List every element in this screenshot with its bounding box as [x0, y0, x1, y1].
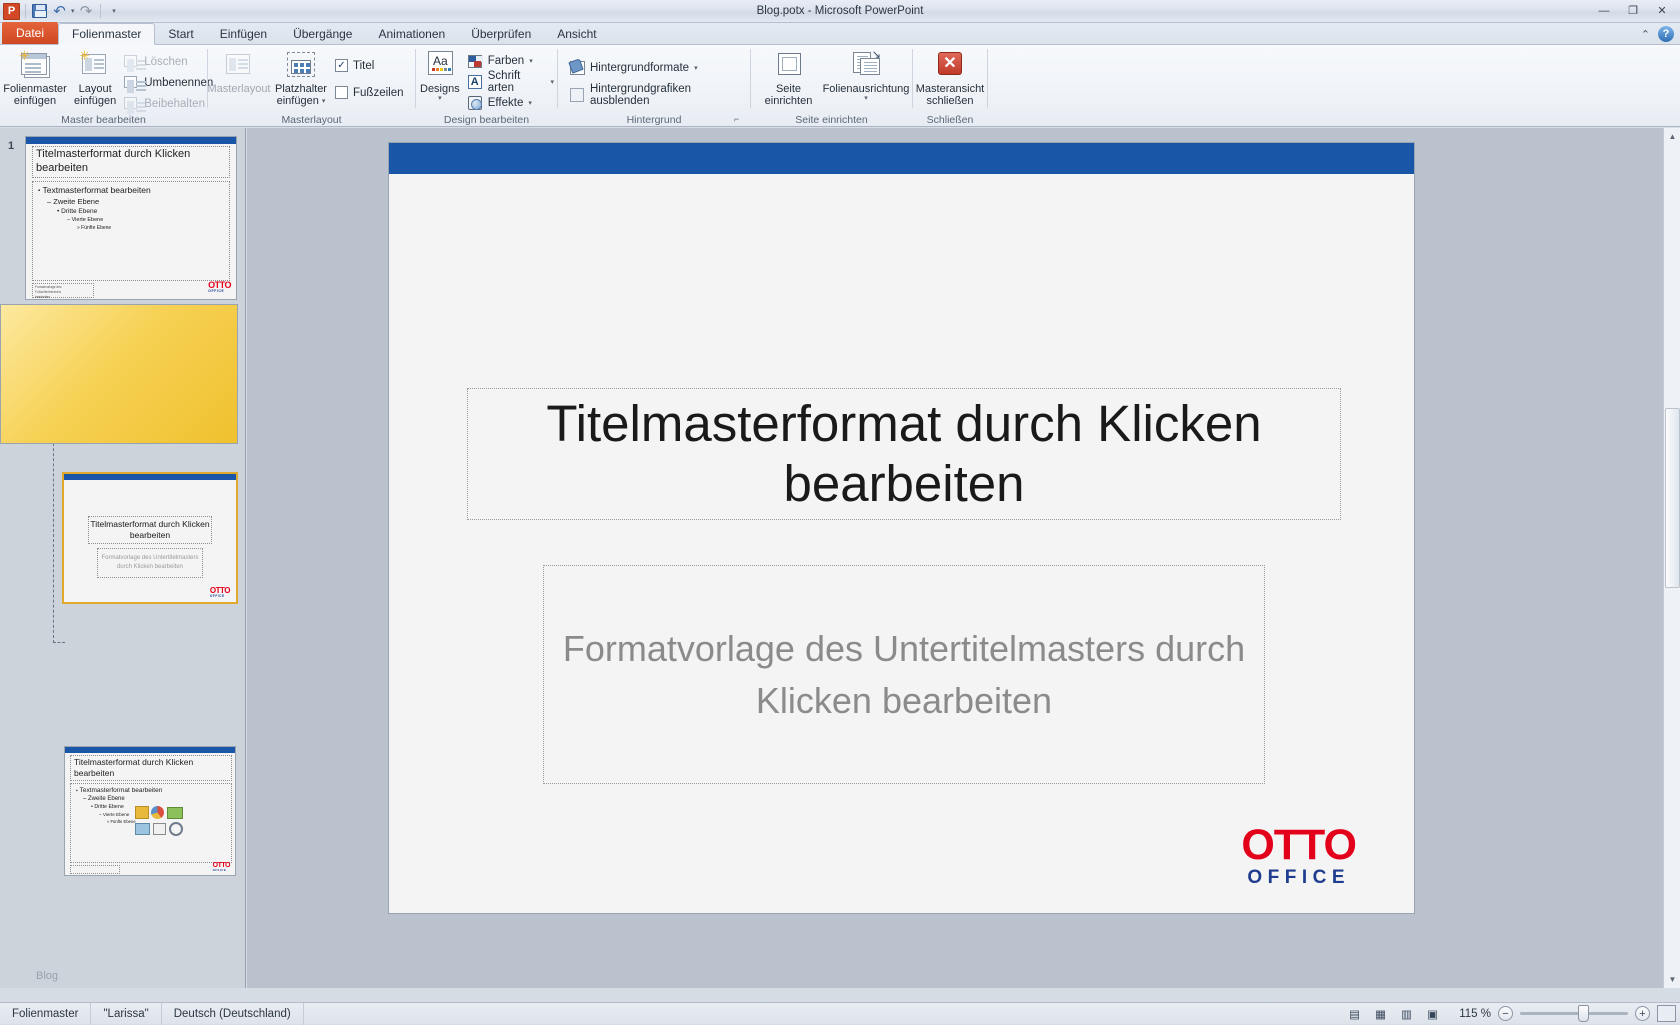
status-bar: Folienmaster "Larissa" Deutsch (Deutschl… [0, 1002, 1680, 1024]
thumb-title-placeholder: Titelmasterformat durch Klicken bearbeit… [70, 755, 232, 781]
thumb-accent-bar [26, 137, 236, 144]
small-button-label: Löschen [144, 56, 187, 68]
background-styles-icon [569, 60, 585, 76]
theme-fonts-button[interactable]: A Schrift arten ▾ [464, 71, 557, 92]
chevron-down-icon[interactable]: ▾ [528, 99, 532, 107]
window-title: Blog.potx - Microsoft PowerPoint [0, 5, 1680, 17]
button-label-line2: einfügen [277, 95, 319, 107]
theme-effects-button[interactable]: Effekte ▾ [464, 92, 557, 113]
scrollbar-thumb[interactable] [1665, 408, 1680, 588]
table-icon [153, 823, 166, 835]
chevron-down-icon[interactable]: ▾ [438, 95, 442, 103]
tab-folienmaster[interactable]: Folienmaster [58, 23, 155, 45]
help-icon[interactable]: ? [1658, 26, 1674, 42]
insert-slide-master-button[interactable]: ✳ Folienmaster einfügen [0, 47, 70, 108]
tab-start[interactable]: Start [155, 23, 206, 44]
qat-divider [25, 4, 26, 18]
delete-master-button[interactable]: Löschen [120, 51, 216, 72]
button-label-line2: einfügen [14, 95, 56, 107]
thumb-body-line-1: ▪ Textmasterformat bearbeiten [71, 784, 231, 794]
button-label-line1: Masterlayout [208, 83, 271, 95]
undo-icon[interactable]: ↶ [51, 3, 68, 20]
zoom-slider-handle[interactable] [1578, 1005, 1589, 1022]
ribbon-group-hintergrund: Hintergrundformate ▾ Hintergrundgrafiken… [558, 45, 750, 127]
small-button-label: Hintergrundformate [590, 62, 689, 74]
content-placeholder-icons [135, 806, 187, 840]
tab-datei[interactable]: Datei [2, 22, 58, 44]
vertical-scrollbar[interactable]: ▲ ▼ [1663, 128, 1680, 988]
slide-edit-area[interactable]: Titelmasterformat durch Klicken bearbeit… [247, 128, 1680, 988]
thumb-otto-logo: OTTO OFFICE [213, 862, 230, 872]
powerpoint-app-icon[interactable]: P [3, 3, 20, 20]
button-label-line1: Folienausrichtung [823, 83, 910, 95]
thumb-accent-bar [65, 747, 235, 753]
small-button-label: Farben [488, 55, 524, 67]
button-label-line1: Layout [79, 83, 112, 95]
chevron-down-icon[interactable]: ▾ [550, 78, 554, 86]
thumb-otto-logo: OTTO OFFICE [208, 281, 231, 294]
button-label-line1: Designs [420, 83, 460, 95]
hide-background-graphics-icon[interactable] [569, 87, 585, 103]
office-wordmark: OFFICE [1241, 868, 1356, 887]
slide-canvas[interactable]: Titelmasterformat durch Klicken bearbeit… [388, 142, 1415, 914]
thumb-body-line-2: – Zweite Ebene [33, 195, 229, 206]
chevron-down-icon[interactable]: ▾ [694, 64, 698, 72]
undo-dropdown-icon[interactable]: ▾ [71, 7, 75, 15]
thumb-body-line-1: ▪ Textmasterformat bearbeiten [33, 182, 229, 195]
insert-layout-icon: ✳ [78, 49, 112, 81]
themes-icon: Aa [423, 49, 457, 81]
slide-orientation-button[interactable]: ↘ Folienausrichtung ▾ [820, 47, 912, 103]
checkbox-label: Hintergrundgrafiken ausblenden [590, 83, 747, 107]
thumb-otto-logo: OTTO OFFICE [210, 587, 230, 598]
scroll-down-button[interactable]: ▼ [1664, 971, 1680, 988]
slide-sorter-view-button[interactable]: ▦ [1371, 1005, 1390, 1022]
ribbon: ✳ Folienmaster einfügen ✳ Layout einfüge… [0, 45, 1680, 127]
hintergrund-dialog-launcher[interactable]: ⌐ [734, 114, 746, 126]
delete-icon [123, 54, 139, 70]
thumb-body-placeholder: ▪ Textmasterformat bearbeiten – Zweite E… [70, 783, 232, 863]
chevron-down-icon[interactable]: ▾ [529, 57, 533, 65]
reading-view-button[interactable]: ▥ [1397, 1005, 1416, 1022]
thumb-body-placeholder: ▪ Textmasterformat bearbeiten – Zweite E… [32, 181, 230, 281]
checkbox-titel[interactable]: ✓ Titel [332, 55, 407, 76]
zoom-in-button[interactable]: + [1635, 1006, 1650, 1021]
tab-ueberpruefen[interactable]: Überprüfen [458, 23, 544, 44]
ribbon-group-schliessen: ✕ Masteransicht schließen Schließen [913, 45, 987, 127]
small-button-label: Umbenennen [144, 77, 213, 89]
thumbnail-title-layout-selection[interactable] [0, 304, 238, 444]
rename-icon [123, 75, 139, 91]
pie-chart-icon [151, 806, 164, 819]
close-master-view-button[interactable]: ✕ Masteransicht schließen [913, 47, 987, 108]
small-button-label: Beibehalten [144, 98, 205, 110]
master-layout-connector-branch [53, 642, 65, 643]
status-theme-name[interactable]: "Larissa" [91, 1003, 161, 1025]
zoom-slider[interactable] [1520, 1012, 1628, 1015]
master-layout-icon [222, 49, 256, 81]
slide-orientation-icon: ↘ [849, 49, 883, 81]
small-button-label: Schrift arten [488, 70, 546, 94]
status-language[interactable]: Deutsch (Deutschland) [162, 1003, 304, 1025]
page-setup-button[interactable]: Seite einrichten [757, 47, 820, 108]
tab-animationen[interactable]: Animationen [365, 23, 458, 44]
colors-icon [467, 53, 483, 69]
checkbox-fusszeilen[interactable]: Fußzeilen [332, 82, 407, 103]
thumb-subtitle-placeholder: Formatvorlage des Untertitelmasters durc… [97, 548, 203, 578]
thumb-body-line-2: – Zweite Ebene [71, 794, 231, 802]
slide-thumbnail-pane[interactable]: 1 Titelmasterformat durch Klicken bearbe… [0, 128, 246, 988]
scroll-up-button[interactable]: ▲ [1664, 128, 1680, 145]
quick-access-toolbar[interactable]: P ↶ ▾ ↷ ▾ [0, 0, 123, 22]
fonts-icon: A [467, 74, 483, 90]
thumb-body-line-3: • Dritte Ebene [33, 206, 229, 215]
slide-subtitle-placeholder[interactable]: Formatvorlage des Untertitelmasters durc… [543, 565, 1265, 784]
master-layout-connector [53, 428, 54, 643]
office-wordmark: OFFICE [210, 595, 230, 598]
save-icon[interactable] [31, 3, 48, 20]
ribbon-group-seite-einrichten: Seite einrichten ↘ Folienausrichtung ▾ S… [751, 45, 912, 127]
theme-colors-button[interactable]: Farben ▾ [464, 50, 557, 71]
thumb-footer-placeholder [70, 865, 120, 874]
clipart-icon [135, 823, 150, 835]
media-icon [169, 822, 183, 836]
ribbon-group-master-bearbeiten: ✳ Folienmaster einfügen ✳ Layout einfüge… [0, 45, 207, 127]
customize-qat-icon[interactable]: ▾ [106, 3, 123, 20]
otto-wordmark: OTTO [1241, 824, 1356, 867]
insert-placeholder-button[interactable]: Platzhalter einfügen ▾ [270, 47, 332, 108]
ribbon-group-design-bearbeiten: Aa Designs ▾ Farben ▾ A Schrift arten ▾ … [416, 45, 557, 127]
button-label-line1: Platzhalter [275, 83, 327, 95]
status-right-controls[interactable]: ▤ ▦ ▥ ▣ 115 % − + [1345, 1003, 1676, 1025]
thumb-body-line-5: » Fünfte Ebene [33, 223, 229, 231]
group-label-master-bearbeiten: Master bearbeiten [0, 114, 207, 126]
thumbnail-content-layout[interactable]: Titelmasterformat durch Klicken bearbeit… [64, 746, 236, 876]
themes-button[interactable]: Aa Designs ▾ [416, 47, 464, 103]
group-label-hintergrund: Hintergrund [558, 114, 750, 126]
close-master-view-icon: ✕ [933, 49, 967, 81]
minimize-button[interactable]: — [1590, 2, 1618, 19]
chart-icon [135, 806, 149, 819]
zoom-level-label[interactable]: 115 % [1449, 1008, 1491, 1020]
title-bar: P ↶ ▾ ↷ ▾ Blog.potx - Microsoft PowerPoi… [0, 0, 1680, 23]
qat-divider-2 [100, 4, 101, 18]
group-label-masterlayout: Masterlayout [208, 114, 415, 126]
slide-title-placeholder[interactable]: Titelmasterformat durch Klicken bearbeit… [467, 388, 1341, 520]
checkbox-box[interactable]: ✓ [335, 59, 348, 72]
picture-icon [167, 807, 183, 819]
rename-master-button[interactable]: Umbenennen [120, 72, 216, 93]
slideshow-view-button[interactable]: ▣ [1423, 1005, 1442, 1022]
page-setup-icon [772, 49, 806, 81]
preserve-master-button[interactable]: Beibehalten [120, 93, 216, 114]
group-label-design-bearbeiten: Design bearbeiten [416, 114, 557, 126]
group-label-schliessen: Schließen [913, 114, 987, 126]
preserve-icon [123, 96, 139, 112]
button-label-line2: einfügen [74, 95, 116, 107]
tab-ansicht[interactable]: Ansicht [544, 23, 609, 44]
checkbox-hintergrundgrafiken-ausblenden[interactable]: Hintergrundgrafiken ausblenden [566, 84, 750, 105]
checkbox-label: Fußzeilen [353, 87, 404, 99]
ribbon-group-masterlayout: Masterlayout Platzhalter einfügen ▾ ✓ Ti… [208, 45, 415, 127]
insert-placeholder-icon [284, 49, 318, 81]
checkbox-label: Titel [353, 60, 374, 72]
chevron-down-icon[interactable]: ▾ [864, 95, 868, 103]
pane-footer-label: Blog [36, 970, 58, 982]
normal-view-button[interactable]: ▤ [1345, 1005, 1364, 1022]
thumb-title-placeholder: Titelmasterformat durch Klicken bearbeit… [32, 146, 230, 178]
window-controls[interactable]: — ❐ ✕ [1590, 2, 1676, 19]
restore-button[interactable]: ❐ [1619, 2, 1647, 19]
thumbnail-title-layout[interactable]: Titelmasterformat durch Klicken bearbeit… [62, 472, 238, 604]
background-styles-button[interactable]: Hintergrundformate ▾ [566, 57, 701, 78]
button-label-line2: einrichten [765, 95, 813, 107]
small-button-label: Effekte [488, 97, 524, 109]
thumb-title-placeholder: Titelmasterformat durch Klicken bearbeit… [88, 516, 212, 544]
group-label-seite-einrichten: Seite einrichten [751, 114, 912, 126]
office-wordmark: OFFICE [208, 290, 231, 294]
button-label-line1: Folienmaster [3, 83, 67, 95]
insert-slide-master-icon: ✳ [18, 49, 52, 81]
redo-icon[interactable]: ↷ [78, 3, 95, 20]
thumb-footer-placeholder: Formatvorlage desFußzeilenbereichsbearbe… [32, 283, 94, 298]
collapse-ribbon-icon[interactable]: ⌃ [1641, 28, 1650, 41]
thumbnail-slide-master[interactable]: Titelmasterformat durch Klicken bearbeit… [25, 136, 237, 300]
button-label-line1: Seite [776, 83, 801, 95]
checkbox-box[interactable] [335, 86, 348, 99]
insert-layout-button[interactable]: ✳ Layout einfügen [70, 47, 120, 108]
tab-uebergaenge[interactable]: Übergänge [280, 23, 365, 44]
effects-icon [467, 95, 483, 111]
tab-einfuegen[interactable]: Einfügen [207, 23, 280, 44]
otto-office-logo: OTTO OFFICE [1241, 824, 1356, 887]
master-layout-button[interactable]: Masterlayout [208, 47, 270, 95]
group-divider-6 [987, 49, 988, 108]
thumb-accent-bar [64, 474, 236, 480]
thumbnail-number-1: 1 [8, 140, 14, 152]
status-view-mode[interactable]: Folienmaster [0, 1003, 91, 1025]
chevron-down-icon[interactable]: ▾ [322, 98, 326, 106]
zoom-out-button[interactable]: − [1498, 1006, 1513, 1021]
slide-accent-bar [389, 143, 1414, 174]
button-label-line2: schließen [926, 95, 973, 107]
thumb-body-line-4: – Vierte Ebene [33, 215, 229, 223]
fit-slide-to-window-button[interactable] [1657, 1005, 1676, 1022]
button-label-line1: Masteransicht [916, 83, 984, 95]
ribbon-tab-strip[interactable]: Datei Folienmaster Start Einfügen Übergä… [0, 23, 1680, 45]
close-button[interactable]: ✕ [1648, 2, 1676, 19]
office-wordmark: OFFICE [213, 869, 230, 872]
